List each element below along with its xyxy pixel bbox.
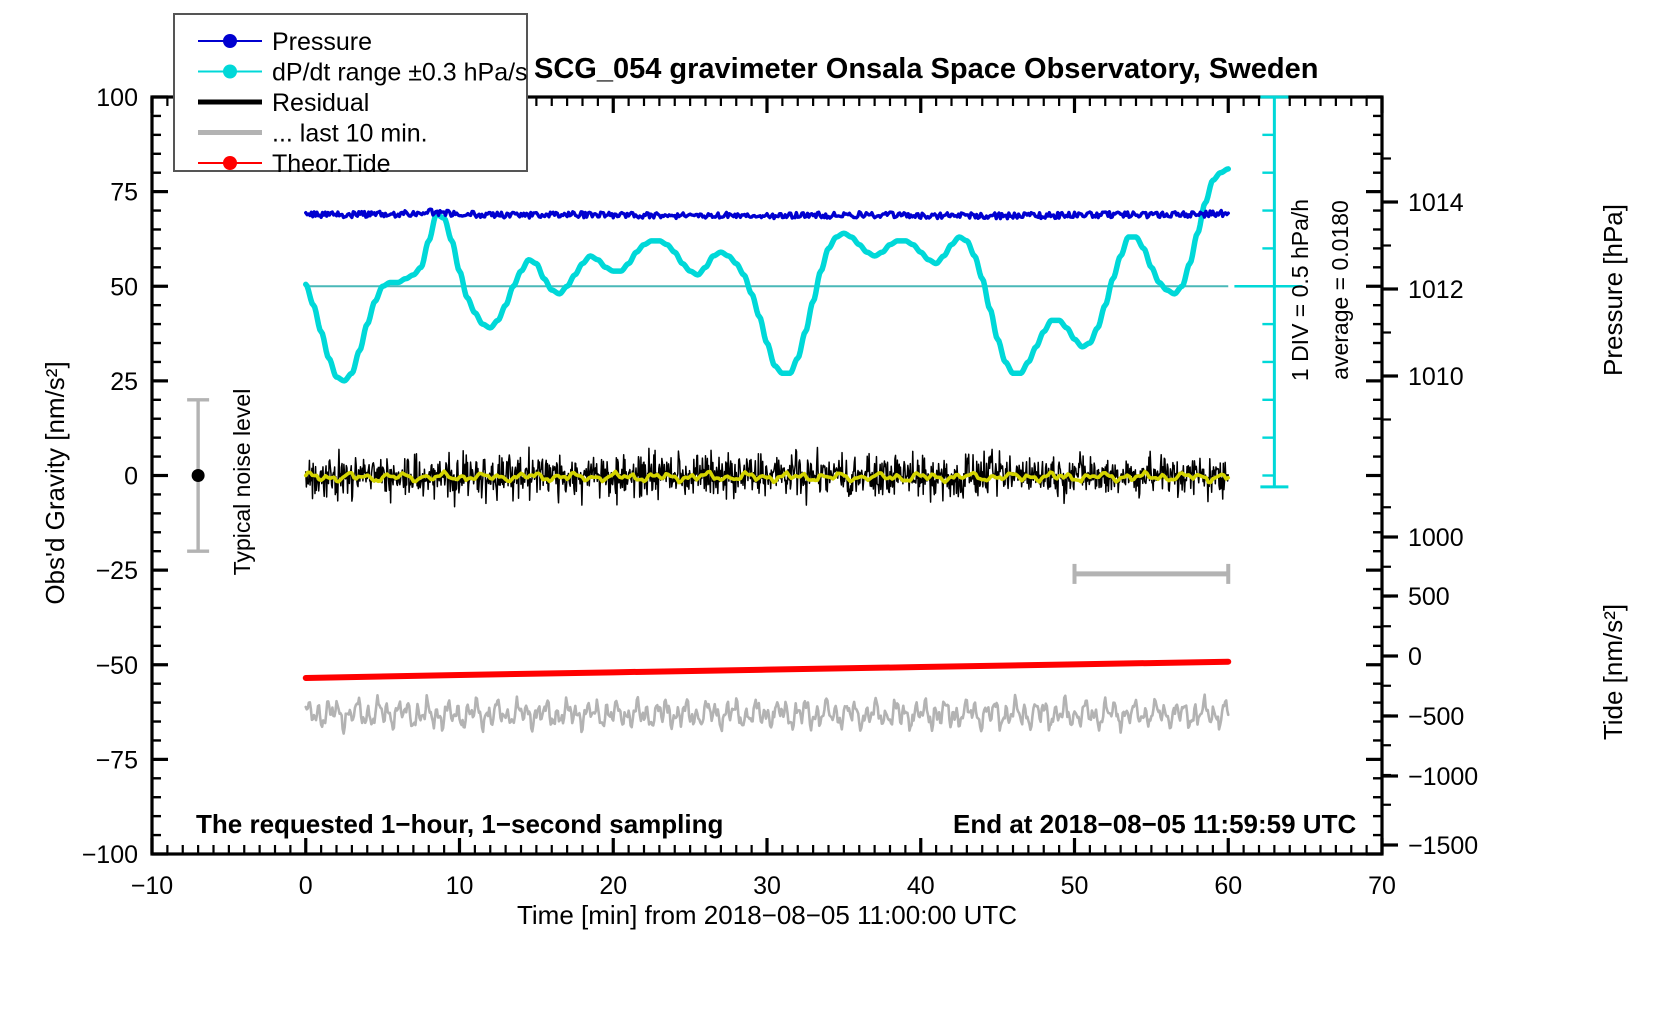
noise-bar-part: [192, 469, 205, 482]
average-label: average = 0.0180: [1327, 200, 1353, 380]
left-tick-label: −75: [96, 746, 138, 774]
plot-figure: 1007550250−25−50−75−100 −100102030405060…: [0, 0, 1676, 1020]
div-scale-label: 1 DIV = 0.5 hPa/h: [1287, 199, 1313, 381]
tide-tick-label: −500: [1408, 703, 1464, 731]
gravimeter-chart: 1007550250−25−50−75−100 −100102030405060…: [0, 0, 1676, 1020]
right-pressure-axis-title: Pressure [hPa]: [1598, 204, 1628, 376]
legend-label-3[interactable]: ... last 10 min.: [272, 120, 428, 148]
right-tide-axis-title: Tide [nm/s²]: [1598, 604, 1628, 740]
bottom-tick-label: 30: [753, 872, 781, 900]
left-tick-label: 25: [110, 368, 138, 396]
legend-marker-0: [223, 34, 237, 48]
left-tick-label: 75: [110, 179, 138, 207]
left-tick-label: 100: [96, 84, 138, 112]
left-tick-label: −100: [82, 841, 138, 869]
pressure-tick-label: 1014: [1408, 189, 1464, 217]
tide-tick-label: 500: [1408, 583, 1450, 611]
footer-left-note: The requested 1−hour, 1−second sampling: [196, 809, 723, 839]
legend-marker-4: [223, 156, 237, 170]
left-axis-title: Obs'd Gravity [nm/s²]: [40, 361, 70, 604]
tide-tick-label: 0: [1408, 643, 1422, 671]
left-tick-label: −25: [96, 557, 138, 585]
tide-tick-label: 1000: [1408, 524, 1464, 552]
left-tick-label: 0: [124, 463, 138, 491]
bottom-tick-label: 10: [446, 872, 474, 900]
bottom-tick-label: 60: [1214, 872, 1242, 900]
bottom-axis-title: Time [min] from 2018−08−05 11:00:00 UTC: [517, 900, 1017, 930]
legend-marker-1: [223, 65, 237, 79]
bottom-tick-label: 20: [599, 872, 627, 900]
legend: PressuredP/dt range ±0.3 hPa/sResidual..…: [174, 14, 528, 178]
page-title: SCG_054 gravimeter Onsala Space Observat…: [534, 53, 1318, 85]
left-tick-label: −50: [96, 652, 138, 680]
pressure-tick-label: 1010: [1408, 363, 1464, 391]
bottom-tick-label: 50: [1061, 872, 1089, 900]
bottom-tick-label: −10: [131, 872, 173, 900]
footer-right-note: End at 2018−08−05 11:59:59 UTC: [953, 809, 1356, 839]
left-tick-label: 50: [110, 273, 138, 301]
tide-tick-label: −1000: [1408, 763, 1478, 791]
legend-label-2[interactable]: Residual: [272, 89, 369, 117]
legend-label-4[interactable]: Theor.Tide: [272, 150, 391, 178]
bottom-tick-label: 70: [1368, 872, 1396, 900]
bottom-tick-label: 0: [299, 872, 313, 900]
pressure-tick-label: 1012: [1408, 276, 1464, 304]
legend-label-0[interactable]: Pressure: [272, 28, 372, 56]
tide-tick-label: −1500: [1408, 832, 1478, 860]
legend-label-1[interactable]: dP/dt range ±0.3 hPa/s: [272, 59, 528, 87]
typical-noise-level-label: Typical noise level: [229, 389, 255, 576]
bottom-tick-label: 40: [907, 872, 935, 900]
